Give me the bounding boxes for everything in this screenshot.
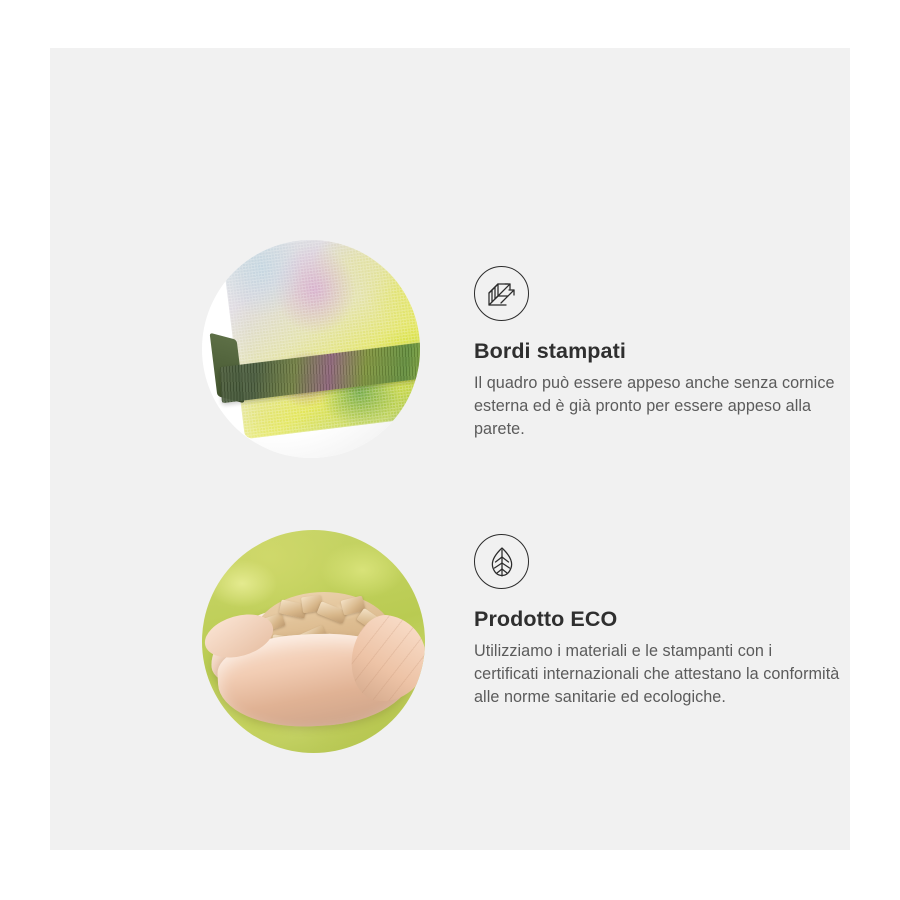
feature-text-eco-product: Prodotto ECO Utilizziamo i materiali e l… (474, 534, 840, 710)
canvas-corner-photo (202, 240, 420, 458)
feature-title: Bordi stampati (474, 339, 840, 365)
content-panel: Bordi stampati Il quadro può essere appe… (50, 48, 850, 850)
feature-description: Il quadro può essere appeso anche senza … (474, 372, 840, 442)
canvas-weave-texture (221, 240, 420, 439)
leaf-icon (474, 534, 529, 589)
feature-description: Utilizziamo i materiali e le stampanti c… (474, 640, 840, 710)
feature-text-printed-edges: Bordi stampati Il quadro può essere appe… (474, 266, 840, 442)
printed-edges-icon (474, 266, 529, 321)
feature-title: Prodotto ECO (474, 607, 840, 633)
feature-page: Bordi stampati Il quadro può essere appe… (0, 0, 900, 900)
canvas-painted-face (221, 240, 420, 439)
wood-chips-hands-photo (202, 530, 425, 753)
